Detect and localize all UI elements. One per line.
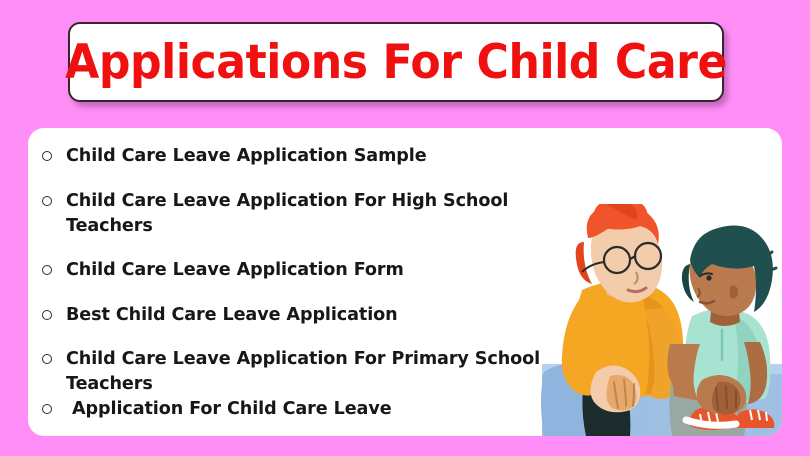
woman-and-child-illustration xyxy=(524,204,782,436)
title-banner: Applications For Child Care xyxy=(68,22,724,102)
list-item[interactable]: Application For Child Care Leave xyxy=(42,397,562,422)
bullet-circle-icon xyxy=(42,354,52,364)
bullet-circle-icon xyxy=(42,196,52,206)
list-item-label: Application For Child Care Leave xyxy=(66,397,562,422)
bullet-circle-icon xyxy=(42,151,52,161)
list-item[interactable]: Child Care Leave Application Form xyxy=(42,258,562,283)
list-item-label: Child Care Leave Application Form xyxy=(66,258,562,283)
list-item[interactable]: Best Child Care Leave Application xyxy=(42,303,562,328)
application-list: Child Care Leave Application Sample Chil… xyxy=(42,144,562,422)
list-item[interactable]: Child Care Leave Application For High Sc… xyxy=(42,189,562,239)
bullet-circle-icon xyxy=(42,310,52,320)
list-item[interactable]: Child Care Leave Application For Primary… xyxy=(42,347,562,397)
page-title: Applications For Child Care xyxy=(65,39,727,86)
bullet-circle-icon xyxy=(42,265,52,275)
poster-canvas: Applications For Child Care Child Care L… xyxy=(0,0,810,456)
list-item-label: Best Child Care Leave Application xyxy=(66,303,562,328)
bullet-circle-icon xyxy=(42,404,52,414)
list-item-label: Child Care Leave Application For High Sc… xyxy=(66,189,562,239)
list-item-label: Child Care Leave Application For Primary… xyxy=(66,347,562,397)
list-item-label: Child Care Leave Application Sample xyxy=(66,144,562,169)
content-card: Child Care Leave Application Sample Chil… xyxy=(28,128,782,436)
list-item[interactable]: Child Care Leave Application Sample xyxy=(42,144,562,169)
